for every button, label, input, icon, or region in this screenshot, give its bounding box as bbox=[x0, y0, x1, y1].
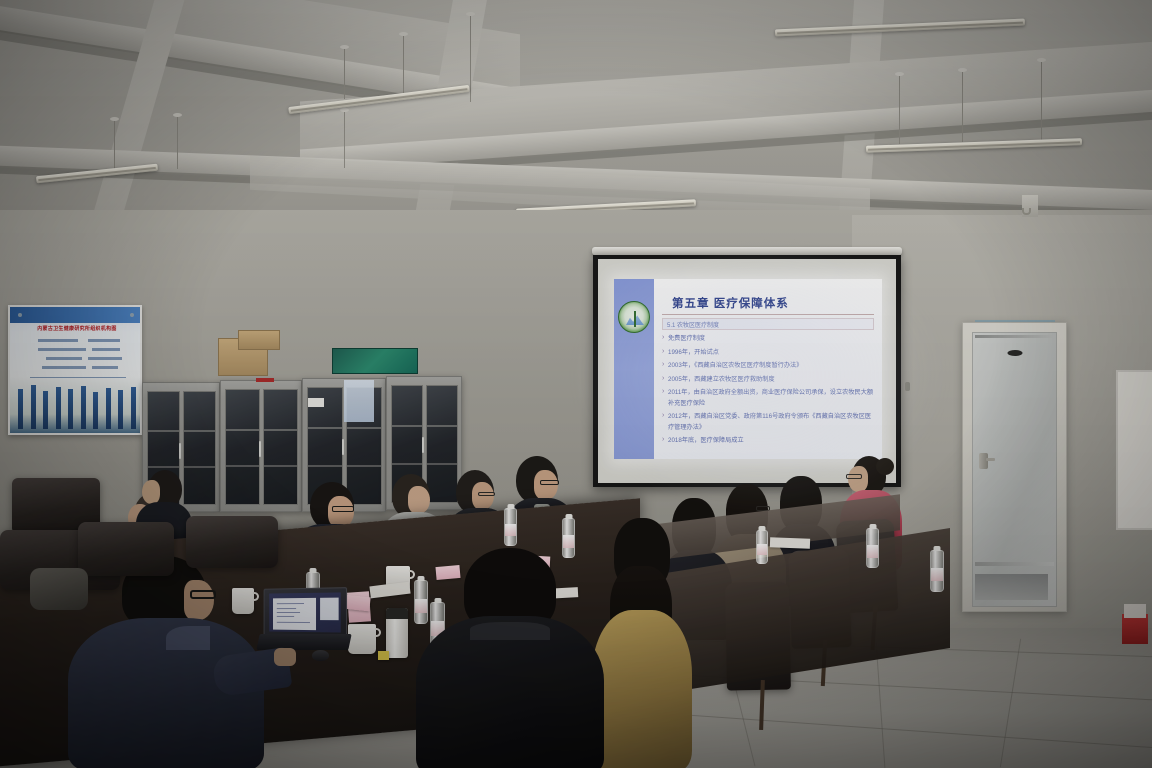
door-handle[interactable] bbox=[979, 453, 988, 469]
face bbox=[142, 480, 160, 504]
coffee-mug[interactable] bbox=[348, 624, 376, 654]
slide-bullet: 免费医疗制度 bbox=[662, 334, 874, 345]
glasses-icon bbox=[190, 590, 216, 599]
wall-bracket-hook bbox=[1022, 208, 1031, 215]
hair-bun bbox=[876, 458, 894, 475]
poster-org-nodes bbox=[18, 383, 136, 429]
cabinet-notice-card bbox=[308, 398, 324, 407]
slide-bullet: 2018年底，医疗保障局成立 bbox=[662, 436, 874, 447]
white-floor-item bbox=[1124, 604, 1146, 618]
door-threshold bbox=[975, 574, 1048, 600]
red-floor-box bbox=[1122, 614, 1148, 644]
hand bbox=[274, 648, 296, 666]
door-kick-rail bbox=[975, 562, 1054, 566]
laptop-keyboard[interactable] bbox=[256, 634, 351, 650]
slide-bullet-list: 免费医疗制度 1996年，开始试点 2003年，《西藏自治区农牧区医疗制度暂行办… bbox=[662, 334, 874, 450]
wall-banner bbox=[332, 348, 418, 374]
face bbox=[184, 580, 214, 620]
water-bottle[interactable] bbox=[866, 528, 879, 568]
projection-screen: 第五章 医疗保障体系 5.1 农牧区医疗制度 免费医疗制度 1996年，开始试点… bbox=[593, 255, 901, 487]
meeting-room-photo: 内蒙古卫生健康研究所组织机构图 bbox=[0, 0, 1152, 768]
face bbox=[472, 482, 494, 510]
water-bottle[interactable] bbox=[756, 530, 768, 564]
glasses-icon bbox=[846, 474, 862, 479]
glasses-icon bbox=[332, 506, 354, 512]
face bbox=[848, 466, 868, 492]
chair[interactable] bbox=[78, 522, 174, 576]
collar bbox=[166, 626, 210, 650]
glasses-icon bbox=[540, 480, 559, 485]
thermos-flask[interactable] bbox=[386, 608, 408, 658]
screen-surface: 第五章 医疗保障体系 5.1 农牧区医疗制度 免费医疗制度 1996年，开始试点… bbox=[598, 259, 896, 483]
slide-title: 第五章 医疗保障体系 bbox=[672, 295, 789, 311]
door-peephole-icon bbox=[1007, 350, 1022, 356]
ceiling-light-fixture bbox=[775, 19, 1025, 37]
attendee-mustard-jacket bbox=[592, 518, 692, 768]
attendee-black-coat bbox=[416, 548, 604, 768]
sticky-note[interactable] bbox=[378, 651, 389, 660]
water-bottle[interactable] bbox=[504, 508, 517, 546]
slide-bullet: 2011年，由自治区政府全额出资，商业医疗保险公司承保，设立农牧民大额补充医疗保… bbox=[662, 388, 874, 409]
slide-subtitle-bar: 5.1 农牧区医疗制度 bbox=[662, 318, 874, 330]
cabinet-poster bbox=[344, 380, 374, 422]
door-top-rail bbox=[975, 335, 1054, 338]
slide-title-rule bbox=[662, 314, 874, 315]
flask-cap bbox=[386, 608, 408, 619]
computer-mouse[interactable] bbox=[312, 650, 329, 661]
slide-bullet: 2012年，西藏自治区党委、政府第116号政府令颁布《西藏自治区农牧区医疗管理办… bbox=[662, 412, 874, 433]
door-slab[interactable] bbox=[972, 332, 1057, 607]
poster-header-band bbox=[10, 307, 140, 323]
screen-document-panel bbox=[273, 598, 316, 630]
presentation-slide: 第五章 医疗保障体系 5.1 农牧区医疗制度 免费医疗制度 1996年，开始试点… bbox=[614, 279, 882, 459]
slide-bullet: 1996年，开始试点 bbox=[662, 348, 874, 359]
screen-side-button[interactable] bbox=[905, 382, 910, 391]
screen-roller-casing bbox=[592, 247, 902, 255]
slide-subtitle: 5.1 农牧区医疗制度 bbox=[667, 320, 719, 329]
torso bbox=[592, 610, 692, 768]
collar bbox=[470, 622, 550, 640]
face bbox=[534, 470, 558, 500]
laptop-screen[interactable] bbox=[269, 592, 341, 632]
poster-chart-area bbox=[20, 337, 134, 381]
face bbox=[408, 486, 430, 514]
document-sheet[interactable] bbox=[770, 537, 810, 548]
slide-bullet: 2005年，西藏建立农牧区医疗救助制度 bbox=[662, 375, 874, 386]
cardboard-box bbox=[238, 330, 280, 350]
poster-title: 内蒙古卫生健康研究所组织机构图 bbox=[16, 325, 138, 332]
institution-emblem-icon bbox=[618, 301, 650, 333]
screen-side-panel bbox=[320, 598, 339, 621]
slide-bullet: 2003年，《西藏自治区农牧区医疗制度暂行办法》 bbox=[662, 361, 874, 372]
bag[interactable] bbox=[30, 568, 88, 610]
chair[interactable] bbox=[186, 516, 278, 568]
entry-door[interactable] bbox=[962, 322, 1067, 612]
wall-poster-org-chart: 内蒙古卫生健康研究所组织机构图 bbox=[8, 305, 142, 435]
right-wall-board bbox=[1116, 370, 1152, 530]
water-bottle[interactable] bbox=[930, 550, 944, 592]
cabinet-label-strip bbox=[256, 378, 274, 382]
laptop-lid bbox=[264, 587, 347, 639]
glasses-icon bbox=[478, 492, 495, 496]
laptop[interactable] bbox=[258, 588, 350, 650]
